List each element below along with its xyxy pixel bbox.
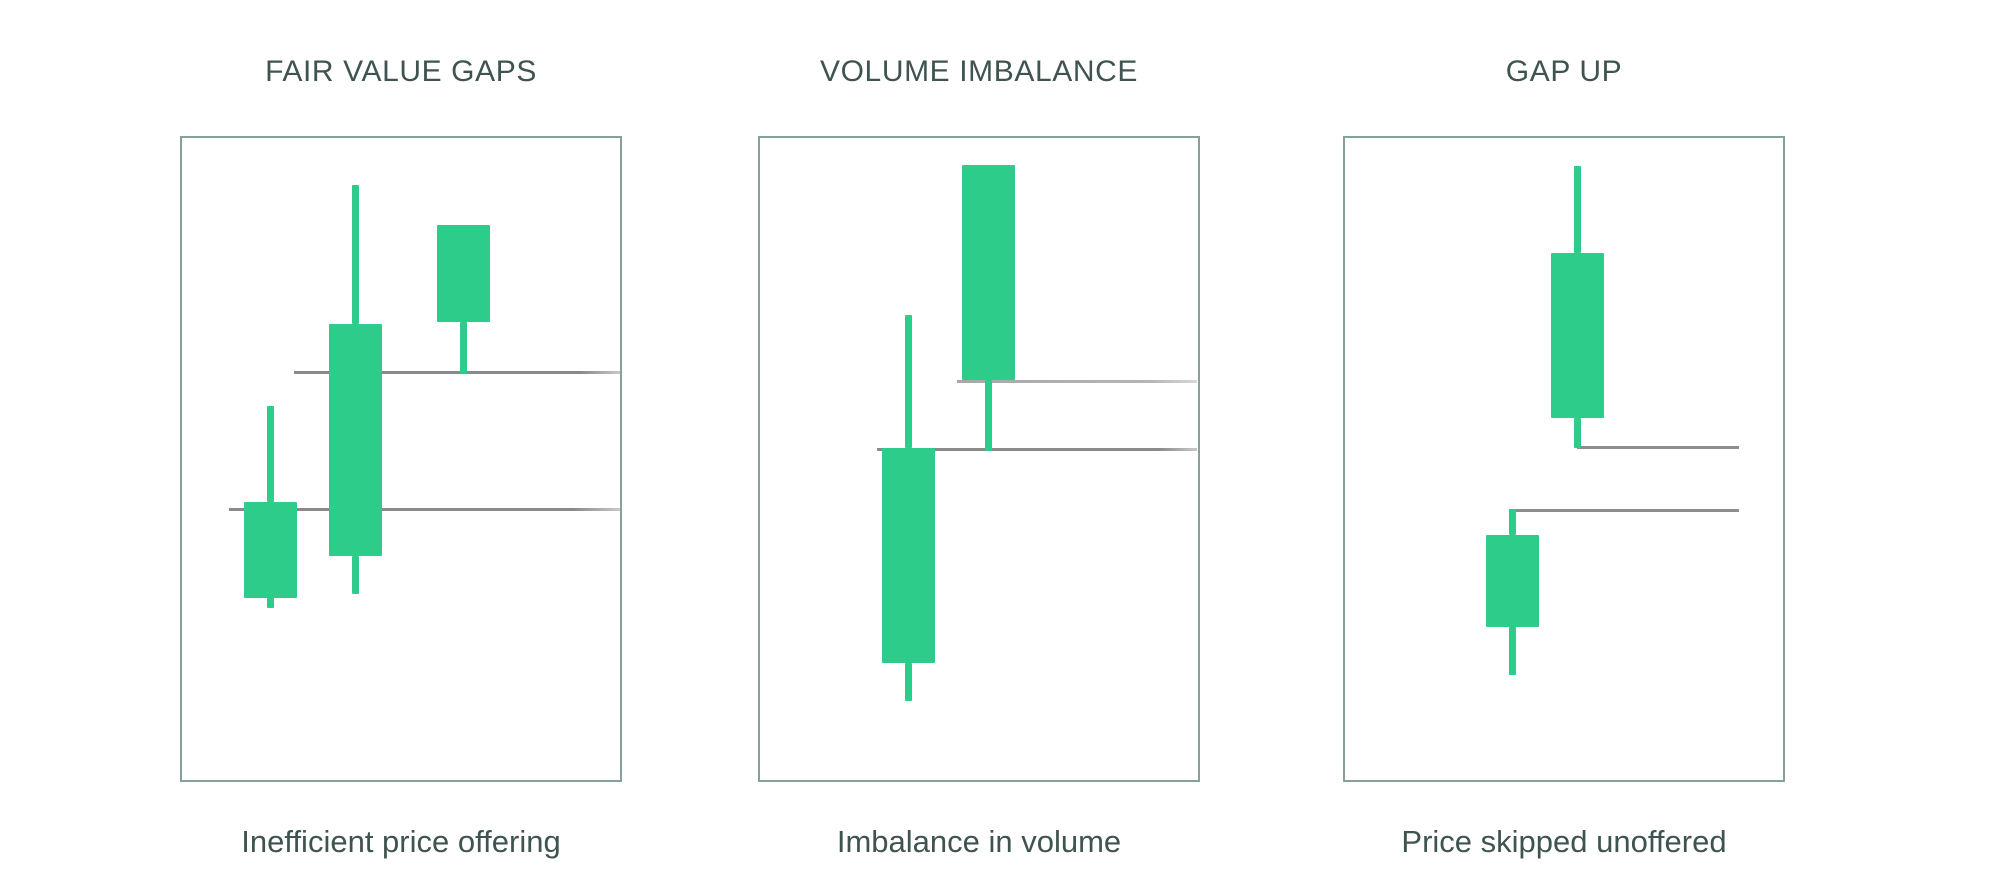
candle-3-body <box>437 225 490 322</box>
panel-title-gap-up: GAP UP <box>1343 55 1785 89</box>
candle-2-lower-wick <box>985 380 992 451</box>
gap-lower-boundary-line-3 <box>1509 509 1739 512</box>
chart-fair-value-gaps <box>182 138 620 780</box>
panel-frame-volume-imbalance <box>758 136 1200 782</box>
panel-caption-volume-imbalance: Imbalance in volume <box>758 824 1200 860</box>
chart-volume-imbalance <box>760 138 1198 780</box>
candle-1-upper-wick <box>267 406 274 502</box>
gap-upper-boundary-line-3 <box>1577 446 1739 449</box>
panel-title-fair-value-gaps: FAIR VALUE GAPS <box>180 55 622 89</box>
candle-1-lower-wick <box>1509 627 1516 675</box>
candle-2-body <box>1551 253 1604 418</box>
candle-3-lower-wick <box>460 322 467 374</box>
panel-caption-fair-value-gaps: Inefficient price offering <box>180 824 622 860</box>
candle-2-upper-wick <box>352 185 359 324</box>
candle-1-lower-wick <box>267 598 274 608</box>
candle-1-body <box>1486 535 1539 627</box>
candle-2-lower-wick <box>352 556 359 594</box>
candle-2-upper-wick <box>1574 166 1581 253</box>
diagram-canvas: FAIR VALUE GAPS <box>0 0 2000 888</box>
candle-1-upper-wick <box>1509 509 1516 535</box>
candle-2-lower-wick <box>1574 418 1581 448</box>
candle-2-body <box>329 324 382 556</box>
candle-1-body <box>882 448 935 663</box>
candle-1-lower-wick <box>905 663 912 701</box>
panel-caption-gap-up: Price skipped unoffered <box>1343 824 1785 860</box>
candle-2-body <box>962 165 1015 380</box>
panel-title-volume-imbalance: VOLUME IMBALANCE <box>758 55 1200 89</box>
candle-1-body <box>244 502 297 598</box>
panel-frame-gap-up <box>1343 136 1785 782</box>
imbalance-upper-boundary-line <box>957 380 1197 383</box>
panel-frame-fair-value-gaps <box>180 136 622 782</box>
chart-gap-up <box>1345 138 1783 780</box>
candle-1-upper-wick <box>905 315 912 448</box>
